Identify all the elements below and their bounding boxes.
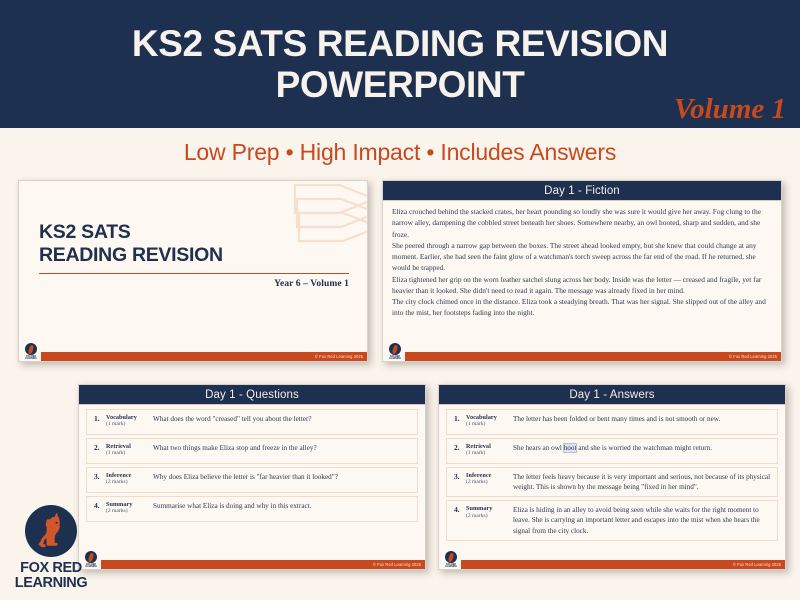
question-marks: (2 marks) — [106, 479, 151, 486]
answer-text: The letter has been folded or bent many … — [511, 414, 773, 424]
volume-badge: Volume 1 — [674, 93, 786, 126]
answer-marks: (2 marks) — [466, 479, 511, 486]
slide-preview-fiction[interactable]: Day 1 - Fiction Eliza crouched behind th… — [382, 180, 782, 362]
table-row: 2. Retrieval (1 mark) She hears an owl h… — [446, 438, 778, 464]
question-text: Why does Eliza believe the letter is "fa… — [151, 472, 413, 482]
slide-header-fiction: Day 1 - Fiction — [383, 181, 781, 200]
slide-preview-answers[interactable]: Day 1 - Answers 1. Vocabulary (1 mark) T… — [438, 384, 786, 570]
title-slide-divider — [39, 273, 349, 274]
page-title: KS2 SATS READING REVISION POWERPOINT — [50, 23, 750, 106]
footer-logo-text: FOX REDLEARNING — [445, 564, 457, 569]
question-text: What does the word "creased" tell you ab… — [151, 414, 413, 424]
footer-logo-icon: FOX REDLEARNING — [442, 551, 460, 569]
title-slide-heading-line2: READING REVISION — [39, 244, 349, 267]
table-row: 3. Inference (2 marks) The letter feels … — [446, 467, 778, 497]
answer-number: 2. — [451, 443, 466, 452]
fiction-paragraph: She peered through a narrow gap between … — [392, 240, 772, 274]
answer-text-post: and she is worried the watchman might re… — [576, 444, 712, 452]
table-row: 2. Retrieval (1 mark) What two things ma… — [86, 438, 418, 464]
header-banner: KS2 SATS READING REVISION POWERPOINT Vol… — [0, 0, 800, 128]
question-marks: (2 marks) — [106, 508, 151, 515]
title-slide-heading-line1: KS2 SATS — [39, 221, 349, 244]
footer-copyright: © Fox Red Learning 2025 — [729, 352, 777, 361]
slide-preview-title[interactable]: KS2 SATS READING REVISION Year 6 – Volum… — [18, 180, 368, 362]
dog-mark-icon — [445, 551, 457, 563]
slide-footer: FOX REDLEARNING © Fox Red Learning 2025 — [19, 348, 367, 361]
question-type: Vocabulary (1 mark) — [106, 414, 151, 429]
footer-bar — [405, 352, 781, 361]
answer-type: Inference (2 marks) — [466, 472, 511, 487]
brand-name-line2: LEARNING — [15, 575, 88, 591]
footer-logo-icon: FOX REDLEARNING — [22, 343, 40, 361]
footer-copyright: © Fox Red Learning 2025 — [315, 352, 363, 361]
question-type: Inference (2 marks) — [106, 472, 151, 487]
slide-header-rule — [383, 200, 781, 201]
question-number: 2. — [91, 443, 106, 452]
answers-table: 1. Vocabulary (1 mark) The letter has be… — [446, 409, 778, 541]
table-row: 1. Vocabulary (1 mark) The letter has be… — [446, 409, 778, 435]
dog-mark-icon — [389, 343, 401, 355]
page-subtitle: Low Prep • High Impact • Includes Answer… — [184, 139, 616, 166]
footer-copyright: © Fox Red Learning 2025 — [733, 560, 781, 569]
question-type: Summary (2 marks) — [106, 501, 151, 516]
table-row: 4. Summary (2 marks) Eliza is hiding in … — [446, 500, 778, 541]
question-marks: (1 mark) — [106, 450, 151, 457]
questions-table: 1. Vocabulary (1 mark) What does the wor… — [86, 409, 418, 522]
title-slide-body: KS2 SATS READING REVISION Year 6 – Volum… — [39, 221, 349, 289]
question-text: Summarise what Eliza is doing and why in… — [151, 501, 413, 511]
question-number: 1. — [91, 414, 106, 423]
question-marks: (1 mark) — [106, 421, 151, 428]
footer-logo-text: FOX REDLEARNING — [389, 356, 401, 361]
answer-marks: (1 mark) — [466, 450, 511, 457]
title-slide-subheading: Year 6 – Volume 1 — [39, 279, 349, 289]
answer-type: Vocabulary (1 mark) — [466, 414, 511, 429]
dog-icon — [32, 512, 70, 550]
footer-logo-text: FOX REDLEARNING — [25, 356, 37, 361]
slide-footer: FOX REDLEARNING © Fox Red Learning 2025 — [383, 348, 781, 361]
table-row: 1. Vocabulary (1 mark) What does the wor… — [86, 409, 418, 435]
slide-footer: FOX REDLEARNING © Fox Red Learning 2025 — [79, 556, 425, 569]
slide-preview-questions[interactable]: Day 1 - Questions 1. Vocabulary (1 mark)… — [78, 384, 426, 570]
answer-marks: (1 mark) — [466, 421, 511, 428]
slide-footer: FOX REDLEARNING © Fox Red Learning 2025 — [439, 556, 785, 569]
highlighted-word: hoot — [564, 444, 577, 452]
dog-mark-icon — [25, 343, 37, 355]
slide-header-rule — [79, 404, 425, 405]
question-type: Retrieval (1 mark) — [106, 443, 151, 458]
slide-header-rule — [439, 404, 785, 405]
brand-name-line1: FOX RED — [20, 560, 82, 576]
question-text: What two things make Eliza stop and free… — [151, 443, 413, 453]
brand-logo: FOX RED LEARNING — [8, 505, 94, 591]
slide-header-answers: Day 1 - Answers — [439, 385, 785, 404]
fiction-text-body: Eliza crouched behind the stacked crates… — [392, 206, 772, 345]
answer-number: 4. — [451, 505, 466, 514]
title-slide-heading: KS2 SATS READING REVISION — [39, 221, 349, 267]
answer-number: 1. — [451, 414, 466, 423]
brand-logo-circle — [25, 505, 77, 557]
answer-number: 3. — [451, 472, 466, 481]
question-number: 3. — [91, 472, 106, 481]
fiction-paragraph: The city clock chimed once in the distan… — [392, 296, 772, 319]
answer-type: Summary (2 marks) — [466, 505, 511, 520]
answer-type: Retrieval (1 mark) — [466, 443, 511, 458]
table-row: 3. Inference (2 marks) Why does Eliza be… — [86, 467, 418, 493]
footer-copyright: © Fox Red Learning 2025 — [373, 560, 421, 569]
answer-text-pre: She hears an owl — [513, 444, 564, 452]
answer-text: She hears an owl hoot and she is worried… — [511, 443, 773, 453]
answer-text: The letter feels heavy because it is ver… — [511, 472, 773, 493]
slide-header-questions: Day 1 - Questions — [79, 385, 425, 404]
answer-marks: (2 marks) — [466, 513, 511, 520]
brand-name: FOX RED LEARNING — [15, 561, 88, 591]
fiction-paragraph: Eliza tightened her grip on the worn lea… — [392, 274, 772, 297]
table-row: 4. Summary (2 marks) Summarise what Eliz… — [86, 496, 418, 522]
footer-logo-icon: FOX REDLEARNING — [386, 343, 404, 361]
fiction-paragraph: Eliza crouched behind the stacked crates… — [392, 206, 772, 240]
answer-text: Eliza is hiding in an alley to avoid bei… — [511, 505, 773, 536]
answer-type-name: Summary — [466, 505, 511, 513]
subtitle-strip: Low Prep • High Impact • Includes Answer… — [0, 128, 800, 176]
